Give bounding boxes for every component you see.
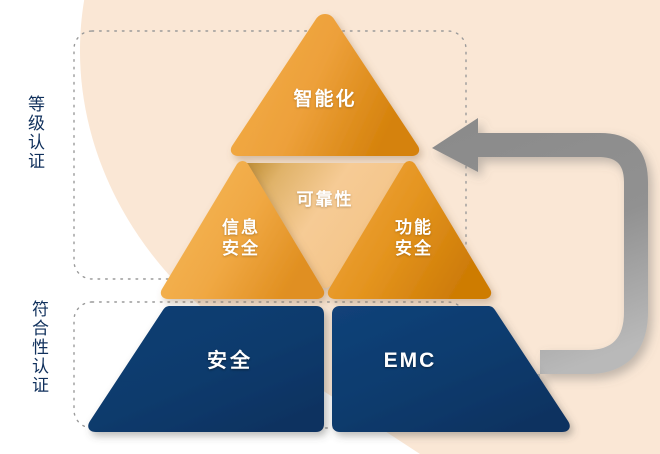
diagram-graphics <box>0 0 660 454</box>
side-label-level-certification: 等级认证 <box>24 95 43 171</box>
side-label-compliance-certification: 符合性认证 <box>28 300 47 395</box>
diagram-canvas: 等级认证 符合性认证 智能化 可靠性 信息 安全 功能 安全 安全 EMC <box>0 0 660 454</box>
